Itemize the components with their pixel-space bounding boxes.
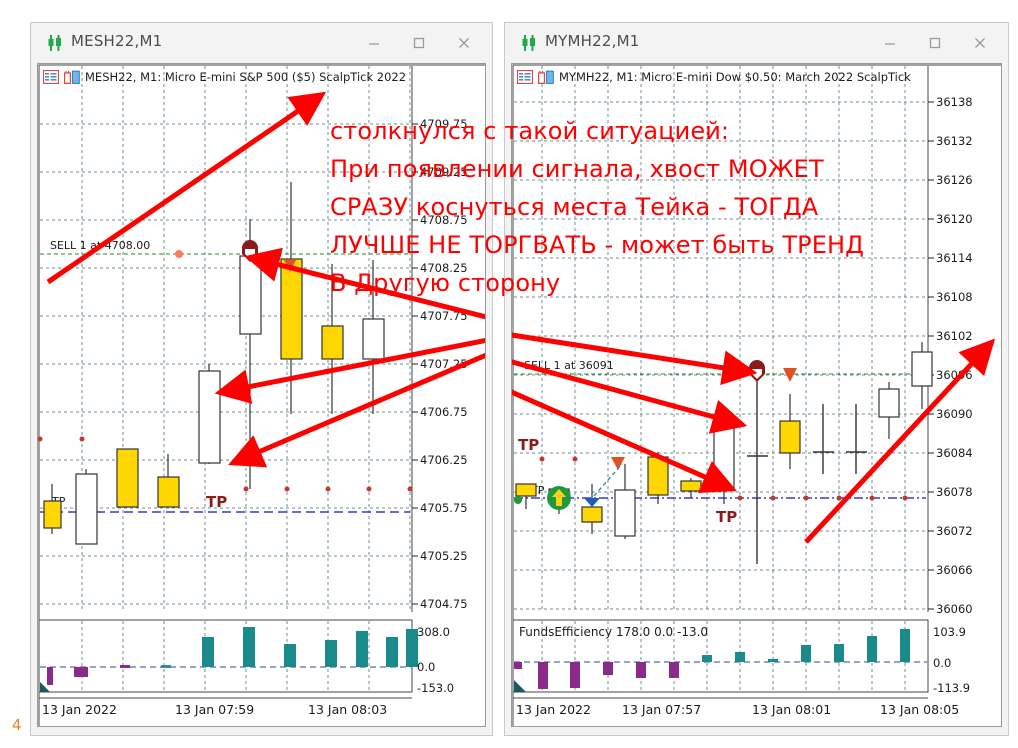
annotation-line-1: столкнулся с такой ситуацией:	[330, 112, 864, 150]
maximize-button-right[interactable]	[912, 23, 957, 63]
close-button-right[interactable]	[957, 23, 1002, 63]
window-title-right: MYMH22,M1	[545, 32, 639, 50]
annotation-line-4: ЛУЧШЕ НЕ ТОРГВАТЬ - может быть ТРЕНД	[330, 226, 864, 264]
page-corner-number: 4	[12, 716, 22, 734]
annotation-line-2: При появлении сигнала, хвост МОЖЕТ	[330, 150, 864, 188]
annotation-line-3: СРАЗУ коснуться места Тейка - ТОГДА	[330, 188, 864, 226]
app-logo-icon	[45, 33, 65, 53]
minimize-button-right[interactable]	[867, 23, 912, 63]
titlebar-left[interactable]: MESH22,M1	[31, 23, 492, 63]
minimize-button-left[interactable]	[351, 23, 396, 63]
annotation-line-5: В Другую сторону	[330, 264, 864, 302]
close-button-left[interactable]	[441, 23, 486, 63]
annotation-text: столкнулся с такой ситуацией: При появле…	[330, 112, 864, 302]
window-controls-right	[867, 23, 1002, 63]
window-controls-left	[351, 23, 486, 63]
app-logo-icon	[519, 33, 539, 53]
maximize-button-left[interactable]	[396, 23, 441, 63]
titlebar-right[interactable]: MYMH22,M1	[505, 23, 1008, 63]
window-title-left: MESH22,M1	[71, 32, 162, 50]
